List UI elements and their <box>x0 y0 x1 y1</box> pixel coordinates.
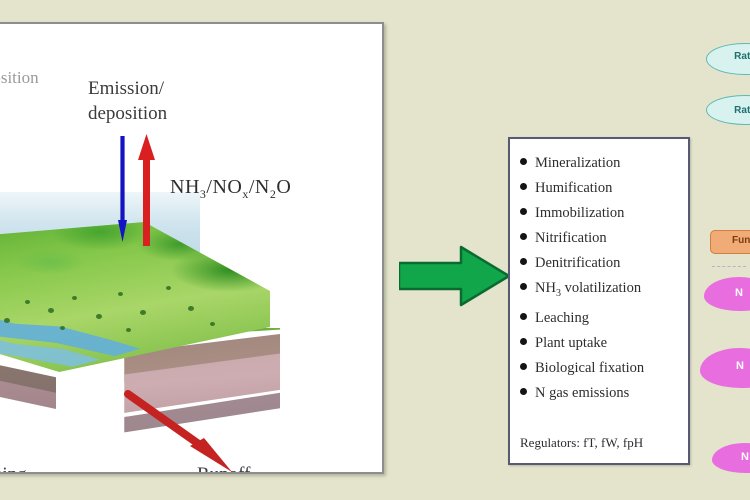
formula-no: /NO <box>206 176 242 198</box>
n-pool-cloud-3: N <box>712 443 750 473</box>
vegetation-speck <box>4 318 10 323</box>
bullet-icon <box>520 283 527 290</box>
vegetation-speck <box>140 310 146 315</box>
list-item: Biological fixation <box>520 356 688 381</box>
vegetation-speck <box>166 286 171 290</box>
formula-nh: NH <box>170 176 200 198</box>
flow-arrow <box>399 243 511 309</box>
bullet-icon <box>520 208 527 215</box>
runoff-arrow <box>124 390 234 474</box>
rate-node-ellipse-1: Rate <box>706 43 750 75</box>
bullet-icon <box>520 233 527 240</box>
list-item: Mineralization <box>520 151 688 176</box>
vegetation-speck <box>126 328 131 332</box>
list-item: NH3 volatilization <box>520 276 688 306</box>
formula-n: /N <box>249 176 270 198</box>
soil-block-illustration <box>0 192 320 422</box>
bullet-icon <box>520 388 527 395</box>
vegetation-speck <box>48 308 54 313</box>
runoff-label: Runoff <box>197 464 250 474</box>
diagram-canvas: Emission/ deposition NH3/NOx/N2O Runoff … <box>0 0 750 500</box>
emission-label-line2: deposition <box>88 103 167 124</box>
formula-o: O <box>276 176 291 198</box>
list-item: Leaching <box>520 306 688 331</box>
leaching-label: Leaching <box>0 464 27 474</box>
process-label-nh3-base: NH <box>535 280 556 296</box>
n-pool-cloud-2: N <box>700 348 750 388</box>
process-label: Plant uptake <box>535 335 607 351</box>
emission-label-line1: Emission/ <box>88 78 164 99</box>
bullet-icon <box>520 313 527 320</box>
deposition-arrow-down <box>118 136 127 242</box>
ecosystem-landscape-panel: Emission/ deposition NH3/NOx/N2O Runoff … <box>0 22 384 474</box>
bullet-icon <box>520 158 527 165</box>
bullet-icon <box>520 183 527 190</box>
bullet-icon <box>520 258 527 265</box>
vegetation-speck <box>72 296 77 300</box>
process-label: Leaching <box>535 310 589 326</box>
process-label: N gas emissions <box>535 385 629 401</box>
process-label: Immobilization <box>535 205 624 221</box>
vegetation-speck <box>188 306 194 311</box>
process-label: Nitrification <box>535 230 607 246</box>
regulators-footer: Regulators: fT, fW, fpH <box>520 435 643 451</box>
vegetation-speck <box>60 326 65 330</box>
n-pool-cloud-1: N <box>704 277 750 311</box>
process-list: Mineralization Humification Immobilizati… <box>510 139 688 406</box>
vegetation-speck <box>118 292 123 296</box>
vegetation-speck <box>210 322 215 326</box>
list-item: Plant uptake <box>520 331 688 356</box>
emission-deposition-label: Emission/ deposition <box>88 76 288 126</box>
dashed-connector <box>712 266 746 267</box>
vegetation-speck <box>96 314 102 319</box>
process-label-nh3-tail: volatilization <box>561 280 641 296</box>
list-item: Immobilization <box>520 201 688 226</box>
nitrogen-gas-formula-label: NH3/NOx/N2O <box>170 176 291 202</box>
list-item: N gas emissions <box>520 381 688 406</box>
emission-arrow-up <box>138 134 155 246</box>
process-label: Humification <box>535 180 612 196</box>
rate-node-ellipse-2: Rate <box>706 95 750 125</box>
function-node-box: Func <box>710 230 750 254</box>
list-item: Nitrification <box>520 226 688 251</box>
soil-n-process-box: Mineralization Humification Immobilizati… <box>508 137 690 465</box>
process-label: Biological fixation <box>535 360 644 376</box>
bullet-icon <box>520 363 527 370</box>
list-item: Denitrification <box>520 251 688 276</box>
process-label: Denitrification <box>535 255 620 271</box>
process-label: Mineralization <box>535 155 620 171</box>
deposition-label-cutoff: Deposition <box>0 68 39 88</box>
vegetation-speck <box>25 300 30 304</box>
bullet-icon <box>520 338 527 345</box>
list-item: Humification <box>520 176 688 201</box>
